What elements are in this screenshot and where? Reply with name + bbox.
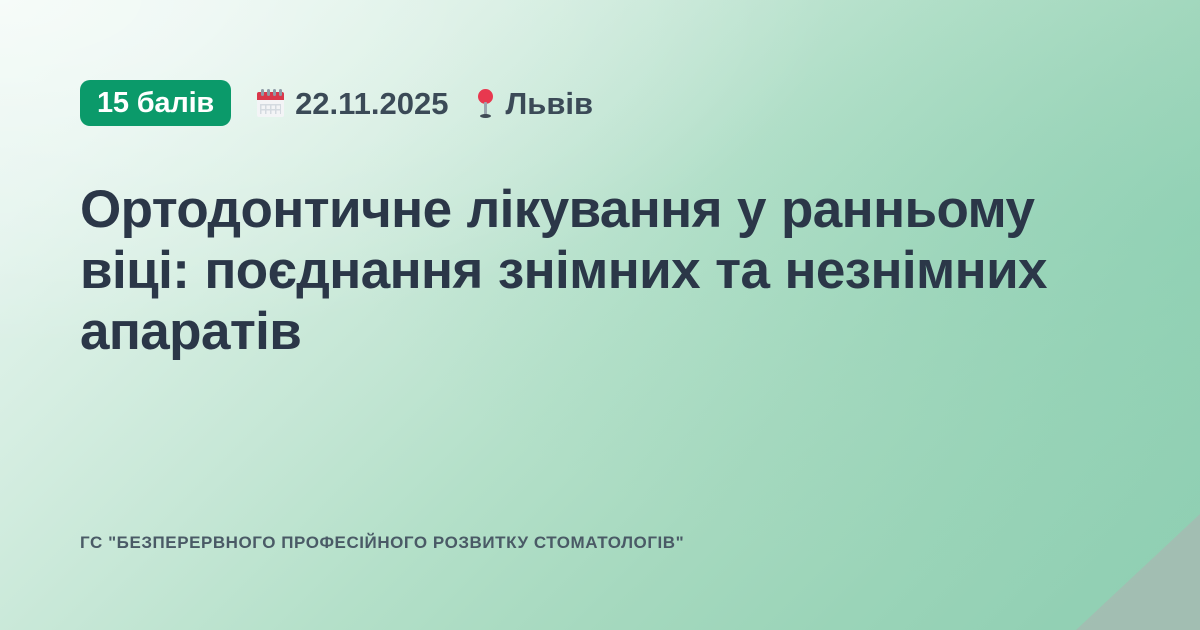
location-pin-icon xyxy=(475,89,495,118)
organizer-name: ГС "БЕЗПЕРЕРВНОГО ПРОФЕСІЙНОГО РОЗВИТКУ … xyxy=(80,533,684,553)
event-location-label: Львів xyxy=(506,88,594,119)
event-location: Львів xyxy=(475,88,594,119)
event-date: 22.11.2025 xyxy=(257,88,448,119)
points-badge: 15 балів xyxy=(80,80,231,126)
meta-row: 15 балів 22.11.2025 xyxy=(80,80,1120,126)
event-title: Ортодонтичне лікування у ранньому віці: … xyxy=(80,180,1110,363)
event-card: 15 балів 22.11.2025 xyxy=(0,0,1200,630)
calendar-icon xyxy=(257,89,284,117)
event-date-label: 22.11.2025 xyxy=(295,88,448,119)
